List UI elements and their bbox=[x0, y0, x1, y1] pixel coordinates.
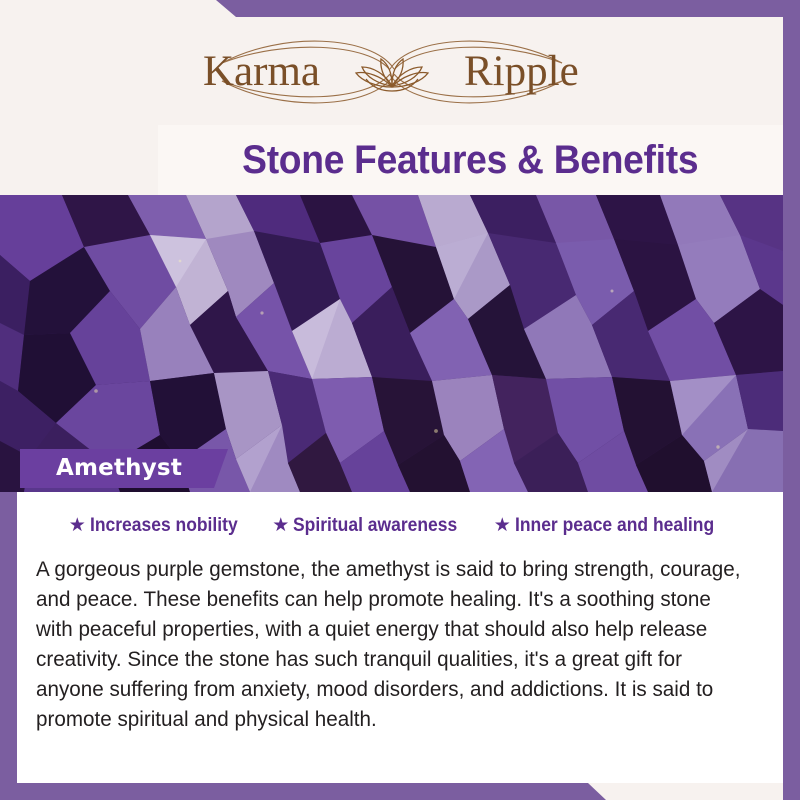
amethyst-crystal-cluster-photo bbox=[0, 195, 783, 492]
infographic-page: Karma Ripple Stone Features & Benefits bbox=[0, 0, 800, 800]
page-title: Stone Features & Benefits bbox=[242, 140, 698, 180]
benefit-item-1: ★ Increases nobility bbox=[69, 516, 251, 535]
lotus-flower-icon bbox=[356, 59, 428, 91]
brand-header: Karma Ripple bbox=[0, 17, 783, 125]
frame-border-left bbox=[0, 492, 17, 800]
benefit-label-1: Increases nobility bbox=[90, 516, 238, 535]
frame-border-bottom bbox=[0, 783, 800, 800]
benefits-list: ★ Increases nobility ★ Spiritual awarene… bbox=[17, 516, 783, 535]
brand-logo: Karma Ripple bbox=[162, 29, 622, 115]
brand-logo-svg: Karma Ripple bbox=[162, 29, 622, 115]
benefit-label-2: Spiritual awareness bbox=[293, 516, 457, 535]
brand-name-right: Ripple bbox=[464, 48, 579, 95]
stone-name-label: Amethyst bbox=[56, 457, 182, 480]
frame-border-right bbox=[783, 0, 800, 800]
star-icon: ★ bbox=[272, 516, 289, 535]
benefit-label-3: Inner peace and healing bbox=[515, 516, 714, 535]
title-band: Stone Features & Benefits bbox=[158, 125, 783, 195]
crystal-facets bbox=[0, 195, 783, 492]
brand-name-left: Karma bbox=[203, 48, 320, 95]
star-icon: ★ bbox=[494, 516, 511, 535]
benefit-item-3: ★ Inner peace and healing bbox=[494, 516, 732, 535]
description-panel: ★ Increases nobility ★ Spiritual awarene… bbox=[17, 492, 783, 783]
stone-name-banner: Amethyst bbox=[20, 449, 228, 488]
star-icon: ★ bbox=[69, 516, 86, 535]
benefit-item-2: ★ Spiritual awareness bbox=[272, 516, 472, 535]
description-text: A gorgeous purple gemstone, the amethyst… bbox=[36, 554, 744, 734]
frame-border-top bbox=[0, 0, 800, 17]
